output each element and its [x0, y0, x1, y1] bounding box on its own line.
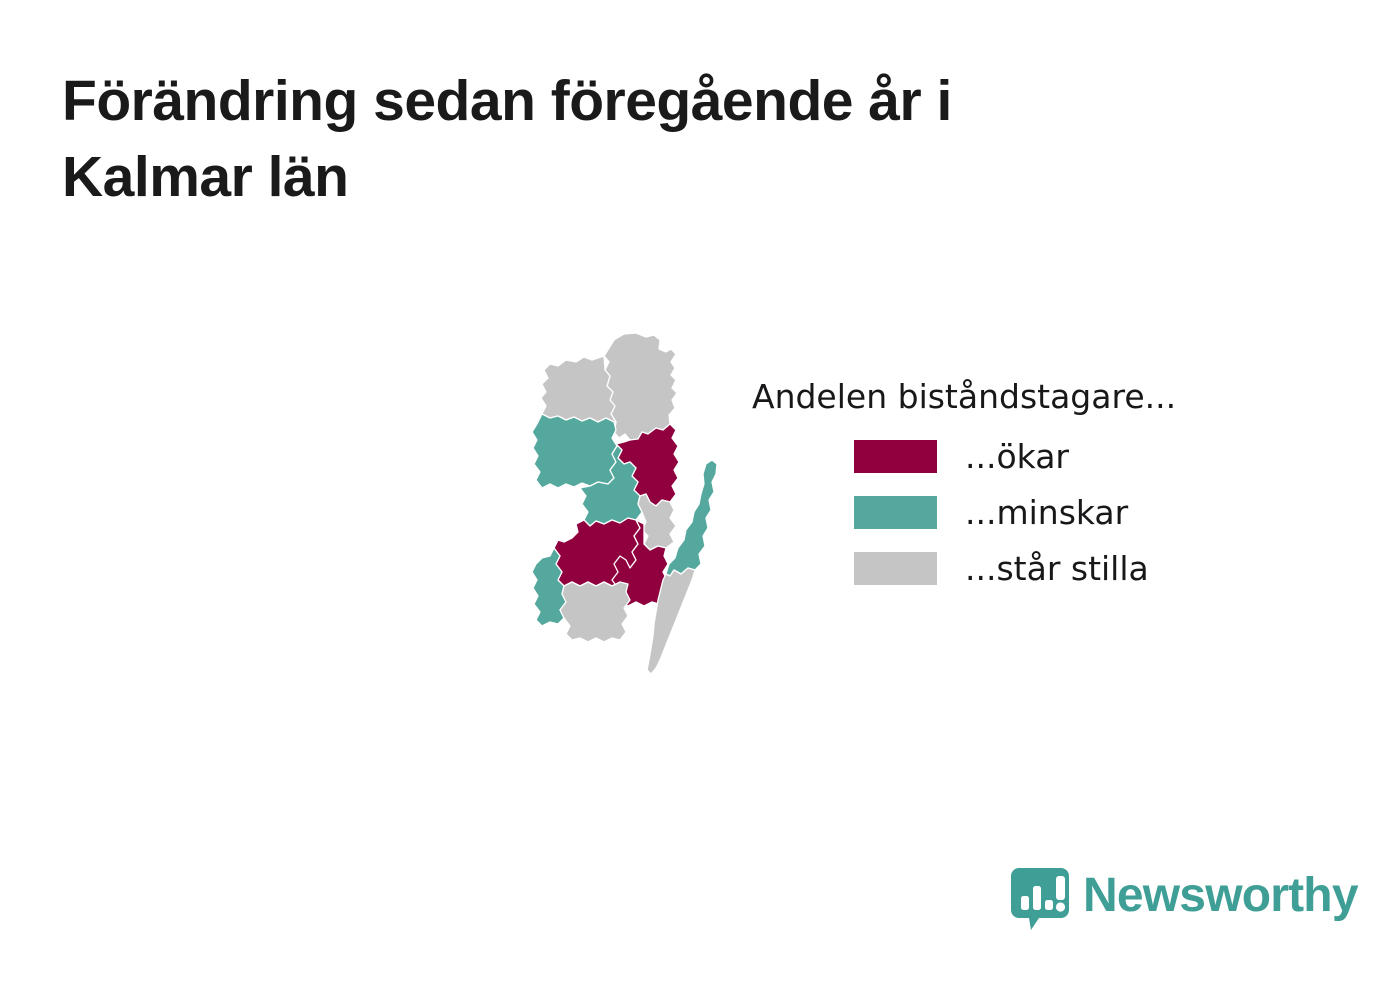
newsworthy-bubble-chart-icon [1009, 866, 1071, 932]
legend-item-unchanged[interactable]: ...står stilla [752, 552, 1272, 585]
legend-swatch-increase [854, 440, 937, 473]
map-area-vimmerby[interactable] [541, 340, 616, 422]
legend-swatch-decrease [854, 496, 937, 529]
legend: Andelen biståndstagare... ...ökar ...min… [752, 377, 1272, 585]
legend-item-decrease[interactable]: ...minskar [752, 496, 1272, 529]
legend-label-decrease: ...minskar [965, 496, 1128, 529]
map-area-hultsfred[interactable] [532, 414, 617, 488]
legend-swatch-unchanged [854, 552, 937, 585]
legend-label-unchanged: ...står stilla [965, 552, 1149, 585]
legend-item-increase[interactable]: ...ökar [752, 440, 1272, 473]
map-municipalities [532, 333, 717, 674]
page-title: Förändring sedan föregående år i Kalmar … [62, 64, 1182, 216]
map-area-torsas[interactable] [560, 582, 630, 642]
choropleth-map [520, 318, 760, 693]
newsworthy-logo[interactable]: Newsworthy [1009, 866, 1358, 932]
legend-label-increase: ...ökar [965, 440, 1069, 473]
legend-title: Andelen biståndstagare... [752, 377, 1272, 417]
newsworthy-wordmark: Newsworthy [1083, 872, 1358, 920]
